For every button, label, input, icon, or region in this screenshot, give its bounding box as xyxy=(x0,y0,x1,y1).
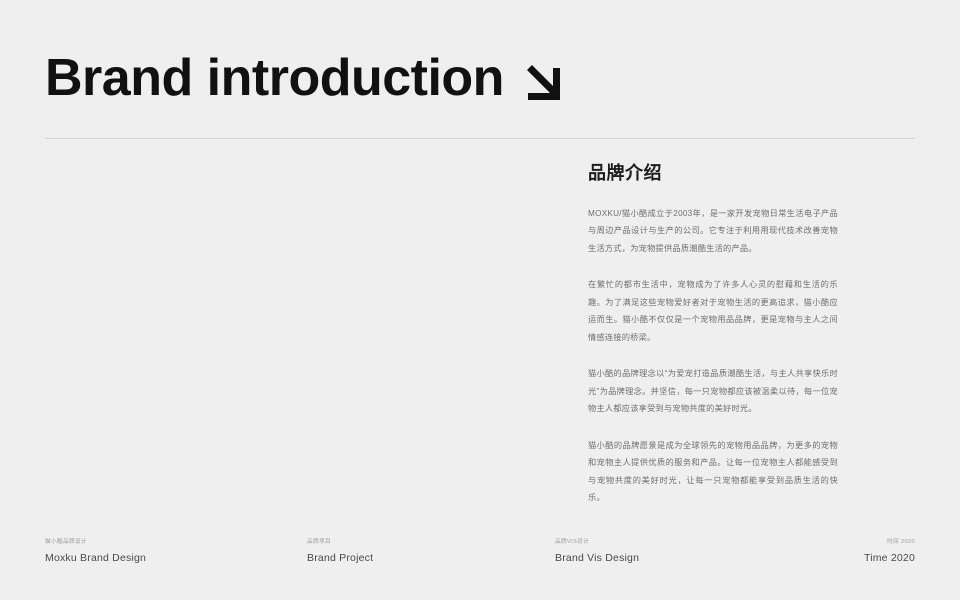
footer-label: 品牌VIS设计 xyxy=(555,538,803,547)
slide-root: Brand introduction 品牌介绍 MOXKU/猫小酷成立于2003… xyxy=(0,0,960,600)
content-column: 品牌介绍 MOXKU/猫小酷成立于2003年，是一家开发宠物日常生活电子产品与周… xyxy=(588,163,838,507)
footer-value: Brand Project xyxy=(307,551,555,565)
footer-value: Time 2020 xyxy=(803,551,915,565)
footer-column-brand-project: 品牌项目 Brand Project xyxy=(307,538,555,565)
footer-label: 猫小酷品牌设计 xyxy=(45,538,307,547)
footer-column-brand-design: 猫小酷品牌设计 Moxku Brand Design xyxy=(45,538,307,565)
paragraph: 猫小酷的品牌理念以“为爱宠打造品质潮酷生活，与主人共享快乐时光”为品牌理念。并坚… xyxy=(588,365,838,418)
page-title: Brand introduction xyxy=(45,52,504,104)
footer-column-brand-vis-design: 品牌VIS设计 Brand Vis Design xyxy=(555,538,803,565)
footer-label: 品牌项目 xyxy=(307,538,555,547)
footer: 猫小酷品牌设计 Moxku Brand Design 品牌项目 Brand Pr… xyxy=(45,538,915,565)
header-divider xyxy=(45,138,915,139)
footer-column-time: 时间 2020 Time 2020 xyxy=(803,538,915,565)
footer-value: Brand Vis Design xyxy=(555,551,803,565)
paragraph: 在繁忙的都市生活中，宠物成为了许多人心灵的慰藉和生活的乐趣。为了满足这些宠物爱好… xyxy=(588,276,838,346)
paragraph: 猫小酷的品牌愿景是成为全球领先的宠物用品品牌，为更多的宠物和宠物主人提供优质的服… xyxy=(588,437,838,507)
footer-label: 时间 2020 xyxy=(803,538,915,547)
arrow-down-right-icon xyxy=(522,59,566,103)
paragraph: MOXKU/猫小酷成立于2003年，是一家开发宠物日常生活电子产品与周边产品设计… xyxy=(588,205,838,258)
footer-value: Moxku Brand Design xyxy=(45,551,307,565)
section-heading: 品牌介绍 xyxy=(588,163,838,185)
page-title-row: Brand introduction xyxy=(45,52,566,104)
